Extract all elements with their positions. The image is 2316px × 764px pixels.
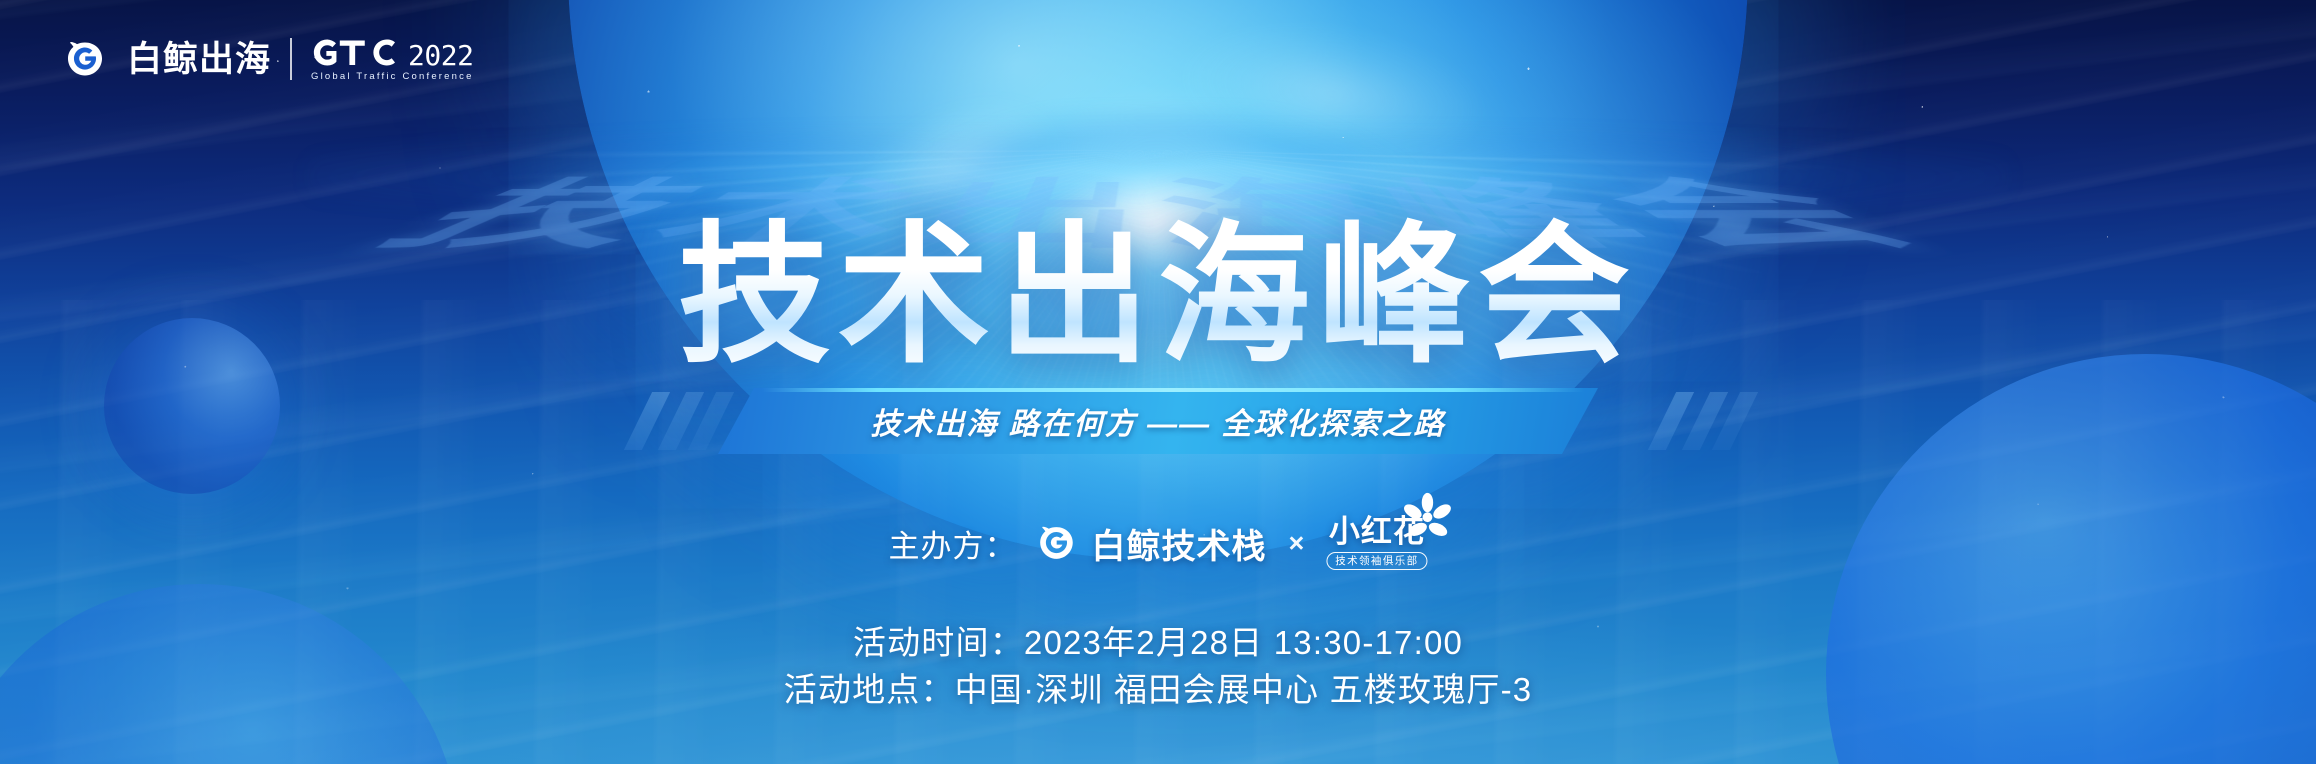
flower-icon (1402, 492, 1454, 544)
event-info: 活动时间：2023年2月28日 13:30-17:00 活动地点：中国·深圳 福… (784, 620, 1533, 714)
gtc-subtitle: Global Traffic Conference (311, 72, 474, 82)
decorative-sphere-left (104, 318, 280, 494)
host-logo[interactable]: 白鲸技术栈 (1034, 519, 1266, 568)
gtc-wordmark-icon (311, 36, 407, 68)
subtitle-banner: 技术出海 路在何方 —— 全球化探索之路 (718, 388, 1598, 454)
banner-accent-line (762, 388, 1584, 392)
page-title: 技术出海峰会 (678, 214, 1638, 378)
cross-icon: × (1284, 528, 1308, 559)
brand-name-cn: 白鲸出海 (127, 42, 271, 77)
decorative-sphere-bottom-left (0, 584, 460, 764)
logo-divider (290, 38, 292, 80)
organizer-row: 主办方： 白鲸技术栈 × 小红花 技术领袖俱乐部 (888, 516, 1427, 570)
horizon-glow (308, 132, 2008, 222)
subtitle-text: 技术出海 路在何方 —— 全球化探索之路 (870, 399, 1445, 443)
partner-logo[interactable]: 小红花 技术领袖俱乐部 (1326, 516, 1427, 570)
whale-g-icon (62, 36, 108, 82)
gtc-logo: 2022 Global Traffic Conference (311, 36, 474, 82)
gtc-year: 2022 (408, 43, 473, 69)
whale-g-icon (1034, 521, 1078, 565)
header-logo-lockup[interactable]: 白鲸出海 2022 Global Traffic Conference (62, 36, 474, 82)
partner-tagline: 技术领袖俱乐部 (1326, 552, 1427, 570)
event-venue-line: 活动地点：中国·深圳 福田会展中心 五楼玫瑰厅-3 (784, 667, 1533, 714)
organizer-label: 主办方： (888, 521, 1016, 566)
host-name: 白鲸技术栈 (1091, 519, 1266, 568)
event-time-line: 活动时间：2023年2月28日 13:30-17:00 (784, 620, 1533, 667)
event-key-visual-banner: 白鲸出海 2022 Global Traffic Conference 技术出海… (0, 0, 2316, 764)
